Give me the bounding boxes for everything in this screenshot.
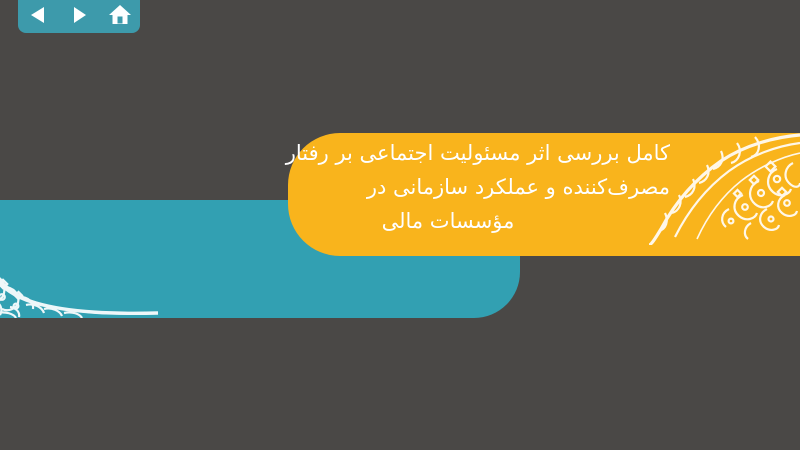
triangle-left-icon bbox=[29, 5, 47, 25]
next-slide-button[interactable] bbox=[64, 2, 94, 28]
previous-slide-button[interactable] bbox=[23, 2, 53, 28]
presentation-slide: کامل بررسی اثر مسئولیت اجتماعی بر رفتار … bbox=[0, 0, 800, 450]
slide-title-line-2: مصرف‌کننده و عملکرد سازمانی در bbox=[250, 170, 670, 204]
slide-title-line-1: کامل بررسی اثر مسئولیت اجتماعی بر رفتار bbox=[250, 136, 670, 170]
arabesque-ornament-teal bbox=[0, 213, 160, 318]
slide-navigation-bar bbox=[18, 0, 140, 33]
slide-title: کامل بررسی اثر مسئولیت اجتماعی بر رفتار … bbox=[250, 136, 670, 238]
home-icon bbox=[108, 4, 132, 26]
home-button[interactable] bbox=[105, 2, 135, 28]
triangle-right-icon bbox=[70, 5, 88, 25]
slide-title-line-3: مؤسسات مالی bbox=[250, 204, 670, 238]
